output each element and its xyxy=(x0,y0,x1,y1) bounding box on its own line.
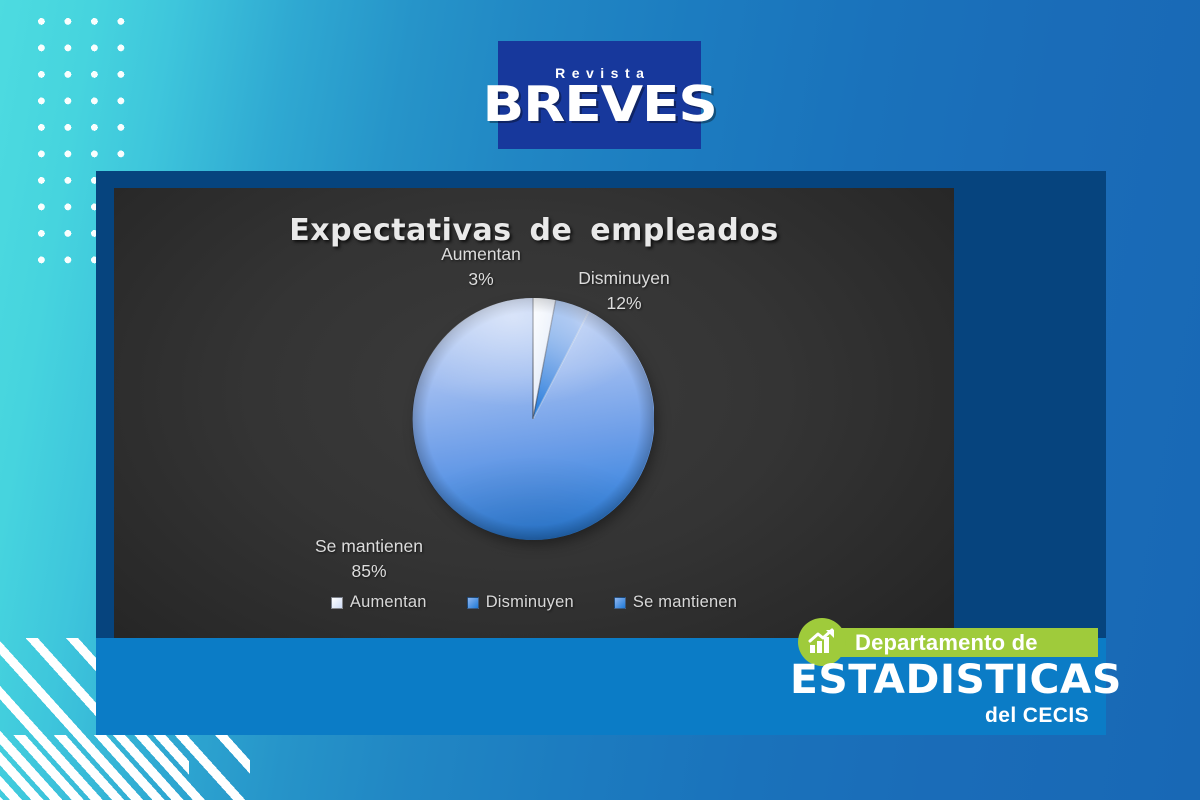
brand-wordmark: BREVES xyxy=(482,82,716,128)
chart-legend: Aumentan Disminuyen Se mantienen xyxy=(114,593,954,612)
departamento-estadisticas-logo: Departamento de ESTADISTICAS del CECIS xyxy=(793,616,1098,734)
logo-line-del-cecis: del CECIS xyxy=(793,704,1089,728)
pie-label-se-mantienen-value: 85% xyxy=(351,561,386,581)
pie-svg xyxy=(412,298,654,540)
pie-label-aumentan: Aumentan 3% xyxy=(401,242,561,292)
legend-label-aumentan: Aumentan xyxy=(350,593,427,612)
legend-swatch-aumentan xyxy=(331,597,343,609)
diagonal-stripes-decoration-lower xyxy=(0,735,250,800)
pie-label-se-mantienen-name: Se mantienen xyxy=(315,536,423,556)
legend-swatch-se-mantienen xyxy=(614,597,626,609)
chart-card: Expectativas de empleados Aumentan 3% Di… xyxy=(114,188,954,638)
legend-item-disminuyen[interactable]: Disminuyen xyxy=(467,593,574,612)
logo-line-estadisticas: ESTADISTICAS xyxy=(790,658,1101,702)
legend-label-se-mantienen: Se mantienen xyxy=(633,593,737,612)
legend-item-se-mantienen[interactable]: Se mantienen xyxy=(614,593,737,612)
pie-label-disminuyen-name: Disminuyen xyxy=(578,268,669,288)
pie-label-aumentan-name: Aumentan xyxy=(441,244,521,264)
legend-label-disminuyen: Disminuyen xyxy=(486,593,574,612)
legend-swatch-disminuyen xyxy=(467,597,479,609)
logo-line-departamento: Departamento de xyxy=(855,630,1038,656)
pie-label-aumentan-value: 3% xyxy=(468,269,493,289)
pie-rim-shading xyxy=(412,298,654,540)
revista-breves-logo: Revista BREVES xyxy=(498,41,701,149)
legend-item-aumentan[interactable]: Aumentan xyxy=(331,593,427,612)
pie-chart xyxy=(412,298,656,544)
